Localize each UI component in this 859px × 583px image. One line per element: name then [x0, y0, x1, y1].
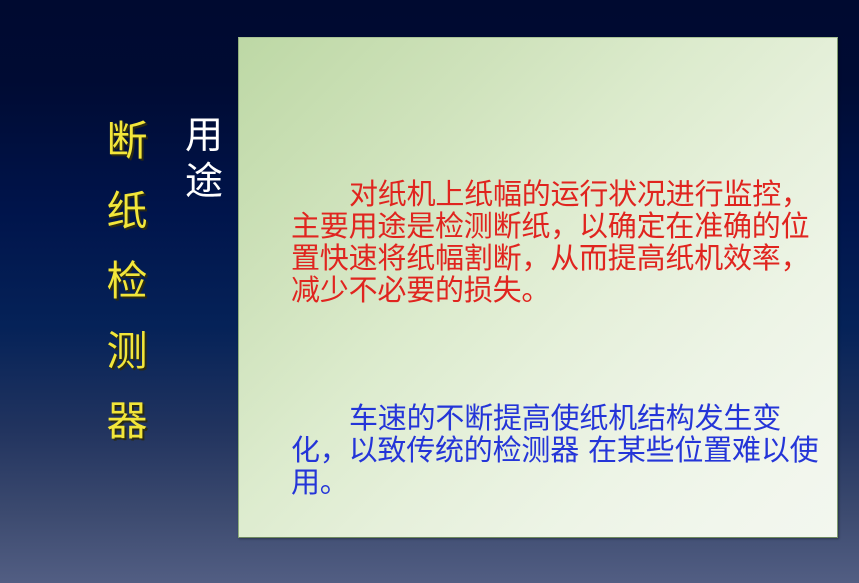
- presentation-slide: 断 纸 检 测 器 用 途 对纸机上纸幅的运行状况进行监控，主要用途是检测断纸，…: [0, 0, 859, 583]
- slide-vertical-title: 断 纸 检 测 器: [96, 106, 158, 456]
- vertical-title-char-1: 断: [107, 106, 148, 176]
- paragraph-background: 车速的不断提高使纸机结构发生变化，以致传统的检测器 在某些位置难以使用。: [239, 402, 838, 498]
- panel-text-body: 对纸机上纸幅的运行状况进行监控，主要用途是检测断纸，以确定在准确的位置快速将纸幅…: [239, 82, 838, 538]
- subtitle-char-2: 途: [185, 158, 223, 204]
- slide-subtitle: 用 途: [176, 112, 232, 204]
- content-panel: 对纸机上纸幅的运行状况进行监控，主要用途是检测断纸，以确定在准确的位置快速将纸幅…: [238, 37, 838, 538]
- vertical-title-char-4: 测: [107, 316, 148, 386]
- vertical-title-char-3: 检: [107, 246, 148, 316]
- vertical-title-char-2: 纸: [107, 176, 148, 246]
- paragraph-purpose: 对纸机上纸幅的运行状况进行监控，主要用途是检测断纸，以确定在准确的位置快速将纸幅…: [239, 178, 838, 306]
- vertical-title-char-5: 器: [107, 386, 148, 456]
- subtitle-char-1: 用: [185, 112, 223, 158]
